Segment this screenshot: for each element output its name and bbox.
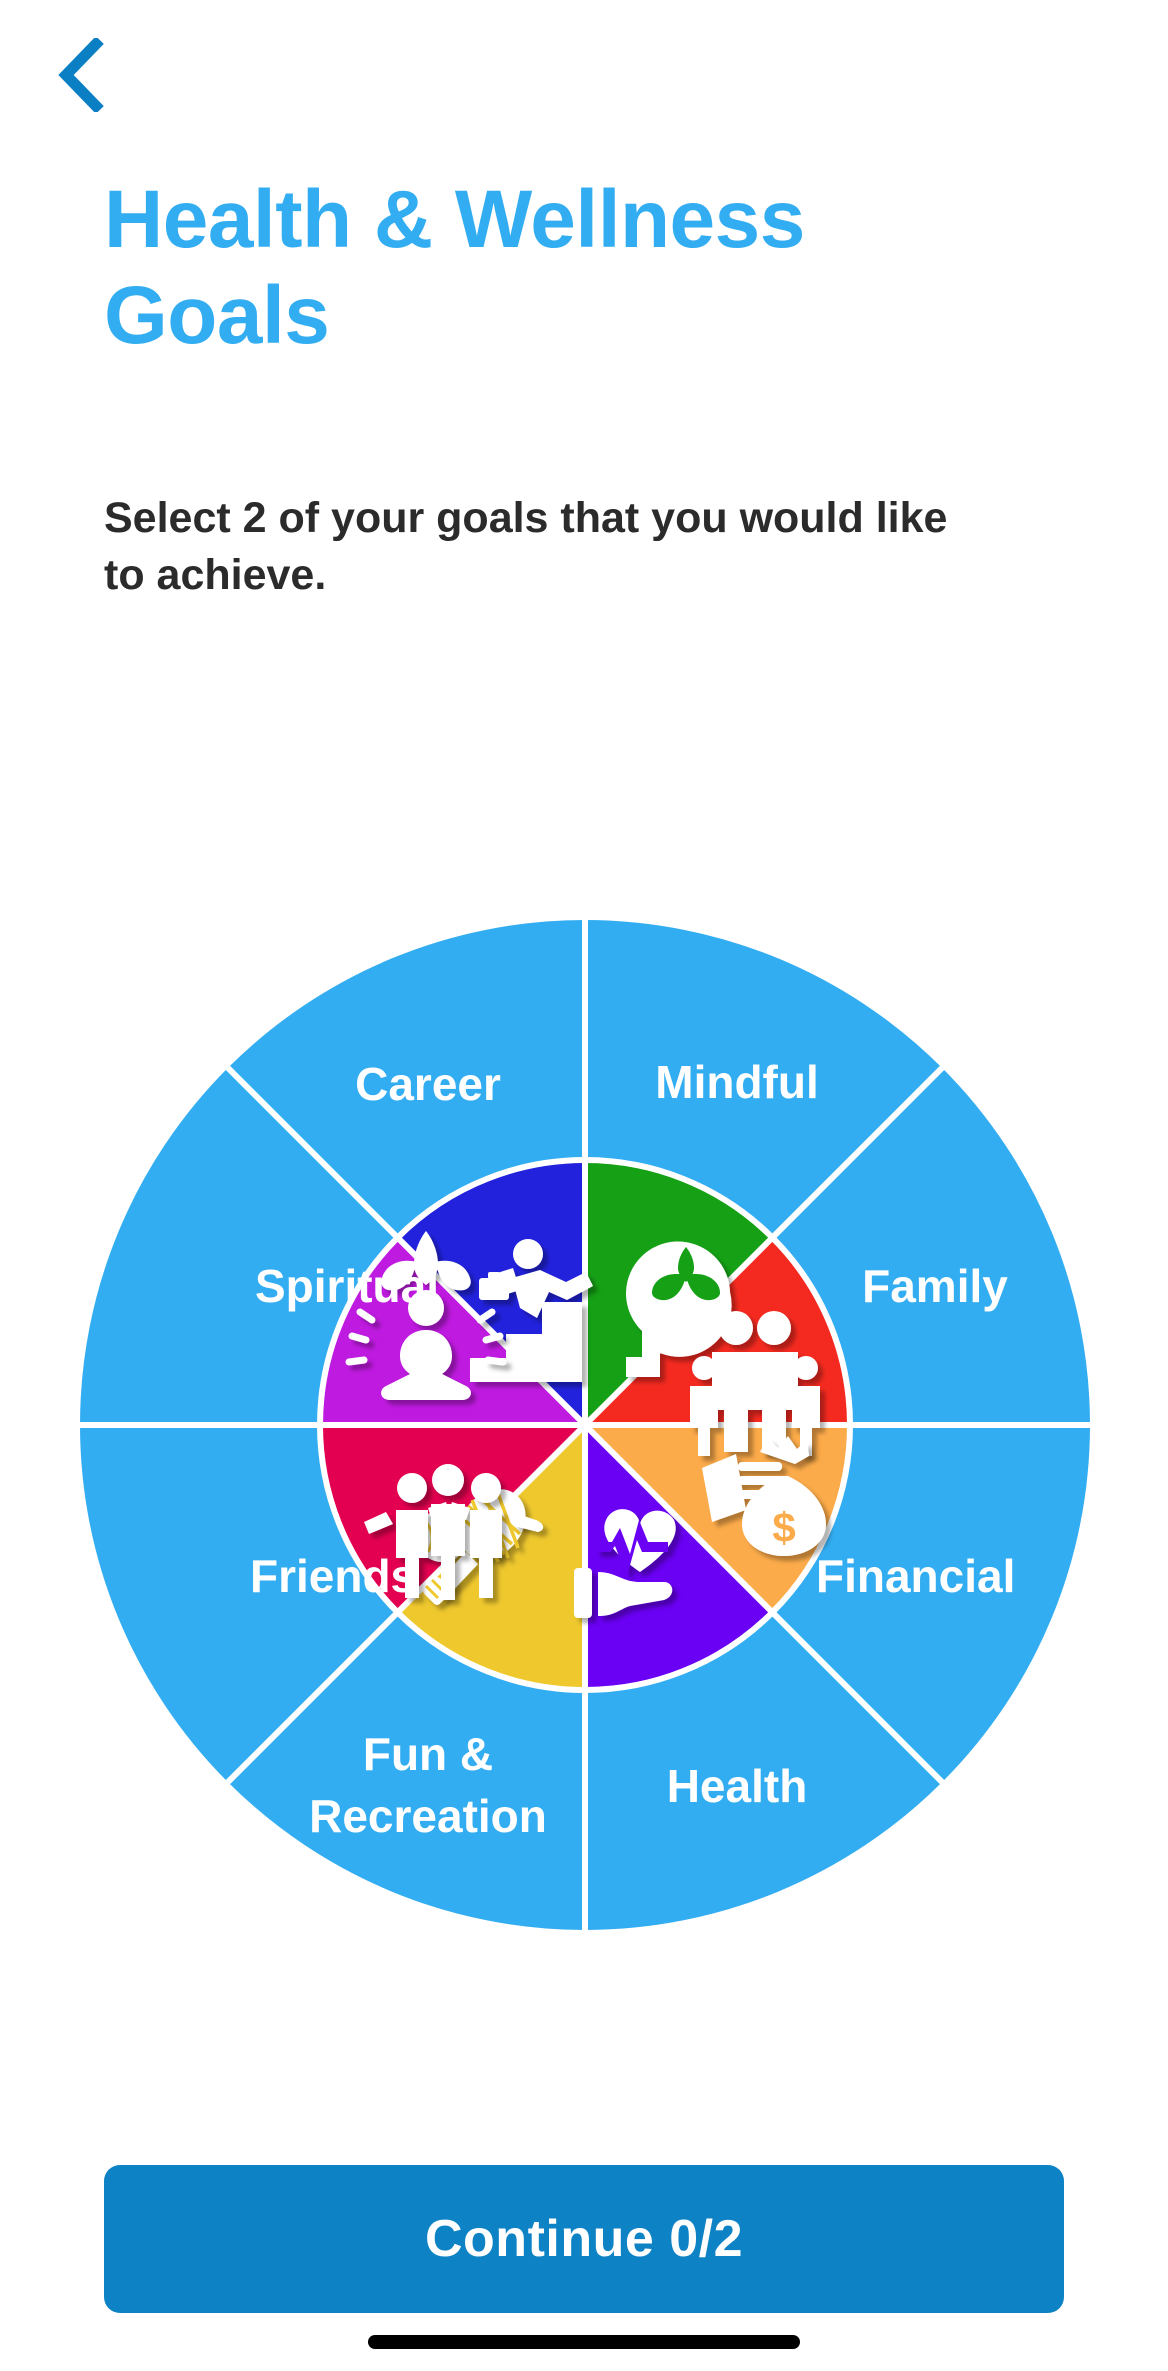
home-indicator — [368, 2335, 800, 2349]
goal-selection-screen: Health & Wellness Goals Select 2 of your… — [0, 0, 1168, 2371]
wheel-label-financial: Financial — [816, 1550, 1015, 1602]
chevron-left-icon — [58, 38, 104, 112]
wheel-label-fun-recreation-line2: Recreation — [309, 1790, 547, 1842]
page-subtitle: Select 2 of your goals that you would li… — [104, 490, 984, 604]
wheel-label-family: Family — [862, 1260, 1008, 1312]
wheel-label-health: Health — [667, 1760, 808, 1812]
continue-button[interactable]: Continue 0/2 — [104, 2165, 1064, 2313]
wheel-label-mindful: Mindful — [655, 1056, 819, 1108]
back-button[interactable] — [38, 32, 124, 118]
page-title: Health & Wellness Goals — [104, 172, 1004, 364]
wheel-label-spiritual: Spiritual — [255, 1260, 439, 1312]
svg-text:$: $ — [772, 1504, 795, 1551]
wheel-label-friends: Friends — [250, 1550, 416, 1602]
goals-wheel[interactable]: $ — [80, 920, 1090, 1930]
wheel-label-fun-recreation-line1: Fun & — [363, 1728, 493, 1780]
goals-wheel-svg[interactable]: $ — [80, 920, 1090, 1930]
money-bag-dollar-sign: $ — [772, 1504, 795, 1551]
wheel-label-career: Career — [355, 1058, 501, 1110]
